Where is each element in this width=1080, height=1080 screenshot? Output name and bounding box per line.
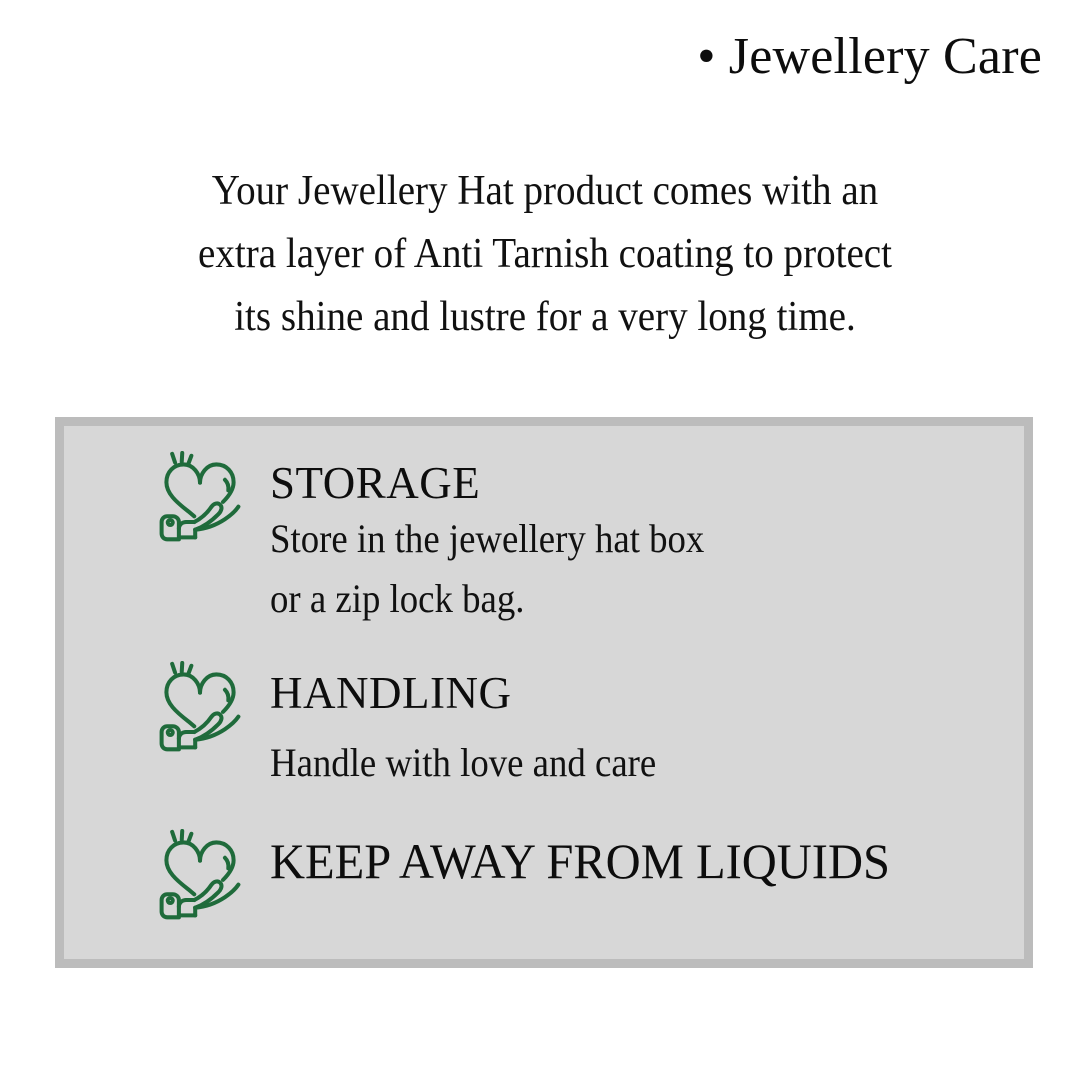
care-row-keep-away-from-liquids: KEEP AWAY FROM LIQUIDS (152, 829, 909, 925)
care-heading: KEEP AWAY FROM LIQUIDS (270, 835, 890, 887)
hand-holding-heart-icon (152, 451, 248, 547)
care-text-block: KEEP AWAY FROM LIQUIDS (270, 829, 909, 887)
hand-holding-heart-icon (152, 661, 248, 757)
intro-paragraph: Your Jewellery Hat product comes with an… (60, 160, 1030, 349)
care-text-block: STORAGE Store in the jewellery hat box o… (270, 451, 742, 629)
care-desc-line: or a zip lock bag. (270, 569, 704, 629)
care-desc-line: Handle with love and care (270, 733, 656, 793)
care-heading: STORAGE (270, 457, 742, 509)
care-instructions-panel: STORAGE Store in the jewellery hat box o… (55, 417, 1033, 968)
intro-line: Your Jewellery Hat product comes with an (94, 160, 996, 223)
intro-line: its shine and lustre for a very long tim… (94, 286, 996, 349)
hand-holding-heart-icon (152, 829, 248, 925)
care-heading: HANDLING (270, 667, 690, 719)
care-text-block: HANDLING Handle with love and care (270, 661, 690, 793)
page-title-text: • Jewellery Care (697, 28, 1042, 85)
intro-line: extra layer of Anti Tarnish coating to p… (94, 223, 996, 286)
page-title: • Jewellery Care (0, 28, 1042, 85)
care-desc-line: Store in the jewellery hat box (270, 509, 704, 569)
care-row-storage: STORAGE Store in the jewellery hat box o… (152, 451, 742, 629)
care-row-handling: HANDLING Handle with love and care (152, 661, 690, 793)
